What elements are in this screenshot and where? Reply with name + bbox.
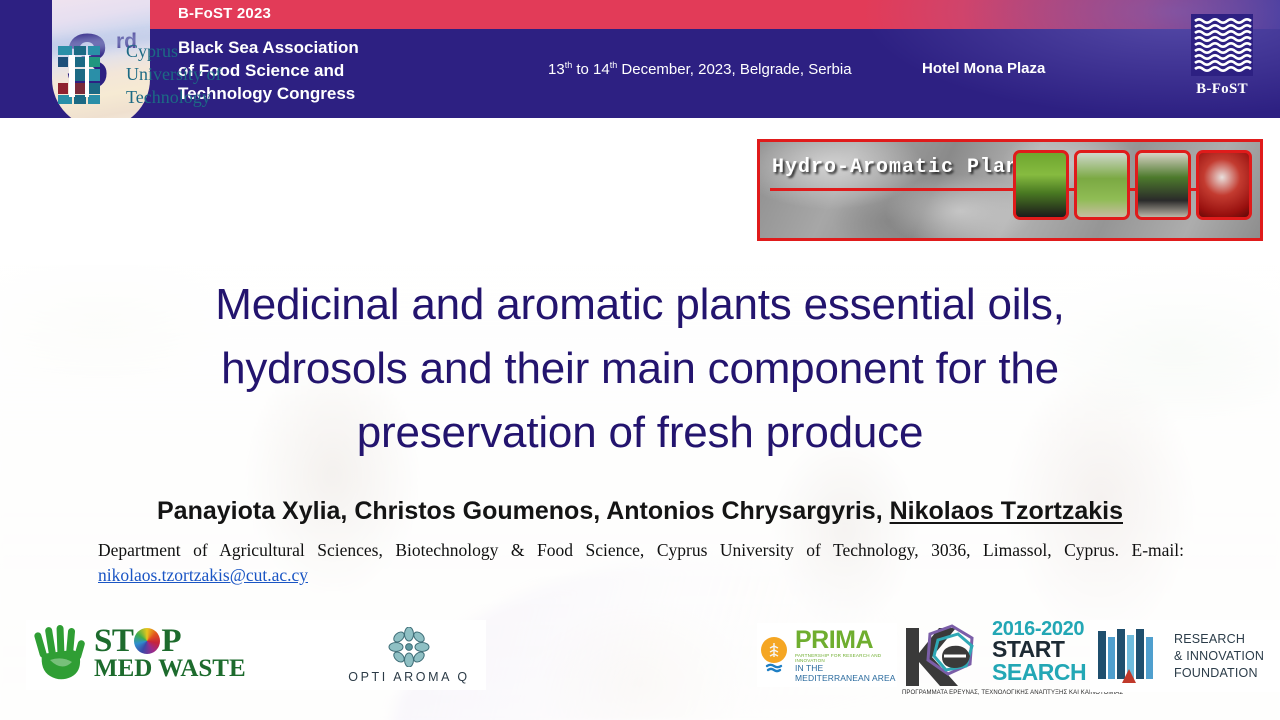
- potted-plant-thumbnail: [1135, 150, 1191, 220]
- congress-venue: Hotel Mona Plaza: [922, 60, 1045, 77]
- page-title-line-1: Medicinal and aromatic plants essential …: [110, 273, 1170, 337]
- opti-aroma-q-wordmark: OPTI AROMA Q: [344, 670, 474, 684]
- aroma-flower-icon: [382, 627, 436, 667]
- greenhouse-crop-thumbnail: [1074, 150, 1130, 220]
- lightbulb-wheat-icon: [757, 635, 791, 675]
- page-title-line-3: preservation of fresh produce: [110, 401, 1170, 465]
- opti-aroma-q-logo: OPTI AROMA Q: [344, 627, 474, 684]
- restart-2016-2020-logo: 2016-2020 START SEARCH ΠΡΟΓΡΑΜΜΑΤΑ ΕΡΕΥΝ…: [900, 614, 1100, 706]
- author-names: Panayiota Xylia, Christos Goumenos, Anto…: [157, 497, 890, 525]
- cut-name-line-1: Cyprus: [126, 40, 221, 63]
- dates-tail: December, 2023, Belgrade, Serbia: [617, 61, 851, 78]
- restart-ke-icon: [900, 624, 988, 690]
- partner-logos-card-left: STP MED WASTE: [26, 620, 486, 690]
- rif-bars-icon: [1096, 627, 1162, 685]
- green-hand-icon: [34, 624, 88, 682]
- tomato-thumbnail: [1196, 150, 1252, 220]
- seedling-trays-thumbnail: [1013, 150, 1069, 220]
- dates-middle: to 14: [572, 61, 610, 78]
- rif-line-2: & INNOVATION: [1174, 648, 1264, 665]
- presenting-author-name: Nikolaos Tzortzakis: [890, 497, 1123, 525]
- cyprus-university-of-technology-logo: Cyprus University of Technology: [56, 40, 221, 109]
- bfost-logo: B-FoST: [1186, 14, 1258, 98]
- cut-name-line-3: Technology: [126, 86, 221, 109]
- stop-med-waste-wordmark: STP MED WASTE: [94, 626, 246, 679]
- rainbow-o-icon: [134, 628, 160, 654]
- prima-logo-inner: PRIMA PARTNERSHIP FOR RESEARCH AND INNOV…: [757, 628, 897, 683]
- restart-word-start: START: [992, 638, 1064, 661]
- banner-thumbnail-strip: [1013, 150, 1252, 220]
- prima-name: PRIMA: [795, 628, 897, 653]
- dates-day-start: 13: [548, 61, 565, 78]
- affiliation-text: Department of Agricultural Sciences, Bio…: [98, 538, 1184, 588]
- event-tag-bar: B-FoST 2023: [150, 0, 1280, 29]
- prima-wordmark: PRIMA PARTNERSHIP FOR RESEARCH AND INNOV…: [795, 628, 897, 683]
- rif-line-1: RESEARCH: [1174, 631, 1264, 648]
- smw-p: P: [161, 626, 181, 656]
- stop-med-waste-line-1: STP: [94, 626, 246, 656]
- bfost-waves-icon: [1191, 14, 1253, 76]
- hydro-aromatic-plants-banner: Hydro-Aromatic Plants: [757, 139, 1263, 241]
- bfost-logo-label: B-FoST: [1186, 81, 1258, 98]
- cut-name: Cyprus University of Technology: [126, 40, 221, 109]
- hydro-aromatic-plants-title: Hydro-Aromatic Plants: [772, 156, 1045, 179]
- page-title-line-2: hydrosols and their main component for t…: [110, 337, 1170, 401]
- author-list: Panayiota Xylia, Christos Goumenos, Anto…: [60, 497, 1220, 526]
- presentation-slide: B-FoST 2023 3 rd Black Sea Association o…: [0, 0, 1280, 720]
- cut-emblem-icon: [56, 44, 112, 106]
- research-and-innovation-foundation-logo: RESEARCH & INNOVATION FOUNDATION: [1090, 620, 1280, 692]
- prima-logo: PRIMA PARTNERSHIP FOR RESEARCH AND INNOV…: [757, 623, 897, 687]
- smw-st: ST: [94, 626, 133, 656]
- prima-subtitle-2: IN THE MEDITERRANEAN AREA: [795, 663, 897, 683]
- stop-med-waste-line-2: MED WASTE: [94, 657, 246, 680]
- cut-name-line-2: University of: [126, 63, 221, 86]
- affiliation-body: Department of Agricultural Sciences, Bio…: [98, 540, 1184, 560]
- page-title: Medicinal and aromatic plants essential …: [110, 273, 1170, 465]
- congress-dates-location: 13th to 14th December, 2023, Belgrade, S…: [548, 60, 852, 78]
- event-tag-label: B-FoST 2023: [178, 5, 271, 22]
- rif-wordmark: RESEARCH & INNOVATION FOUNDATION: [1174, 631, 1264, 682]
- rif-line-3: FOUNDATION: [1174, 665, 1264, 682]
- prima-subtitle-1: PARTNERSHIP FOR RESEARCH AND INNOVATION: [795, 653, 897, 663]
- restart-word-search: SEARCH: [992, 661, 1086, 684]
- contact-email-link[interactable]: nikolaos.tzortzakis@cut.ac.cy: [98, 565, 308, 585]
- stop-med-waste-logo: STP MED WASTE: [34, 624, 246, 682]
